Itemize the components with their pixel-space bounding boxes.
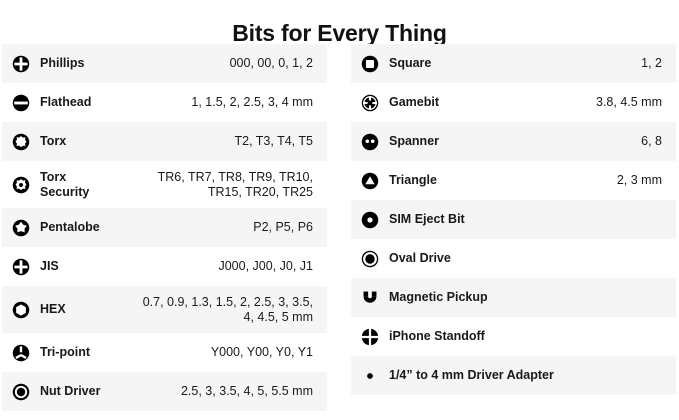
bit-row: JISJ000, J00, J0, J1: [2, 247, 327, 286]
bit-sizes: 1, 1.5, 2, 2.5, 3, 4 mm: [97, 95, 313, 110]
bit-label: HEX: [40, 302, 72, 317]
bit-label: Spanner: [389, 134, 445, 149]
page-title: Bits for Every Thing: [0, 0, 679, 44]
bit-row: Flathead1, 1.5, 2, 2.5, 3, 4 mm: [2, 83, 327, 122]
sim-eject-icon: [361, 211, 389, 229]
bit-sizes: 1, 2: [437, 56, 662, 71]
bit-label: 1/4” to 4 mm Driver Adapter: [389, 368, 560, 383]
bit-row: Square1, 2: [351, 44, 676, 83]
pentalobe-icon: [12, 219, 40, 237]
bit-label: Triangle: [389, 173, 443, 188]
nut-driver-icon: [12, 383, 40, 401]
bit-label: Gamebit: [389, 95, 445, 110]
bit-label: Torx Security: [40, 170, 95, 199]
bit-row: Phillips000, 00, 0, 1, 2: [2, 44, 327, 83]
tri-point-icon: [12, 344, 40, 362]
bits-chart-page: Bits for Every Thing Phillips000, 00, 0,…: [0, 0, 679, 420]
bit-row: iPhone Standoff: [351, 317, 676, 356]
bit-row: Oval Drive: [351, 239, 676, 278]
bit-sizes: T2, T3, T4, T5: [72, 134, 313, 149]
phillips-icon: [12, 55, 40, 73]
bit-row: Triangle2, 3 mm: [351, 161, 676, 200]
bit-row: Nut Driver2.5, 3, 3.5, 4, 5, 5.5 mm: [2, 372, 327, 411]
bit-label: Oval Drive: [389, 251, 457, 266]
torx-icon: [12, 133, 40, 151]
bit-row: Spanner6, 8: [351, 122, 676, 161]
bit-label: JIS: [40, 259, 65, 274]
square-icon: [361, 55, 389, 73]
bit-sizes: 2, 3 mm: [443, 173, 662, 188]
bit-label: Nut Driver: [40, 384, 106, 399]
spanner-icon: [361, 133, 389, 151]
bit-row: SIM Eject Bit: [351, 200, 676, 239]
bit-row: HEX0.7, 0.9, 1.3, 1.5, 2, 2.5, 3, 3.5, 4…: [2, 286, 327, 333]
gamebit-icon: [361, 94, 389, 112]
right-column: Square1, 2Gamebit3.8, 4.5 mmSpanner6, 8T…: [351, 44, 676, 395]
bit-label: Magnetic Pickup: [389, 290, 494, 305]
bit-sizes: P2, P5, P6: [106, 220, 313, 235]
driver-adapter-icon: [361, 367, 389, 385]
bit-label: Tri-point: [40, 345, 96, 360]
bit-row: TorxT2, T3, T4, T5: [2, 122, 327, 161]
bit-label: SIM Eject Bit: [389, 212, 471, 227]
bit-label: Torx: [40, 134, 72, 149]
bit-label: Pentalobe: [40, 220, 106, 235]
bit-sizes: 2.5, 3, 3.5, 4, 5, 5.5 mm: [106, 384, 313, 399]
bit-sizes: 6, 8: [445, 134, 662, 149]
jis-icon: [12, 258, 40, 276]
bit-label: Flathead: [40, 95, 97, 110]
hex-icon: [12, 301, 40, 319]
bit-sizes: 3.8, 4.5 mm: [445, 95, 662, 110]
bit-label: iPhone Standoff: [389, 329, 491, 344]
triangle-icon: [361, 172, 389, 190]
bit-sizes: 0.7, 0.9, 1.3, 1.5, 2, 2.5, 3, 3.5, 4, 4…: [72, 295, 313, 325]
bit-sizes: Y000, Y00, Y0, Y1: [96, 345, 313, 360]
bit-row: Torx SecurityTR6, TR7, TR8, TR9, TR10, T…: [2, 161, 327, 208]
bit-label: Phillips: [40, 56, 90, 71]
columns-container: Phillips000, 00, 0, 1, 2Flathead1, 1.5, …: [0, 44, 679, 411]
bit-sizes: 000, 00, 0, 1, 2: [90, 56, 313, 71]
bit-row: Magnetic Pickup: [351, 278, 676, 317]
bit-row: Tri-pointY000, Y00, Y0, Y1: [2, 333, 327, 372]
iphone-standoff-icon: [361, 328, 389, 346]
flathead-icon: [12, 94, 40, 112]
bit-row: PentalobeP2, P5, P6: [2, 208, 327, 247]
bit-row: Gamebit3.8, 4.5 mm: [351, 83, 676, 122]
left-column: Phillips000, 00, 0, 1, 2Flathead1, 1.5, …: [2, 44, 327, 411]
torx-security-icon: [12, 176, 40, 194]
oval-drive-icon: [361, 250, 389, 268]
bit-sizes: TR6, TR7, TR8, TR9, TR10, TR15, TR20, TR…: [95, 170, 313, 200]
bit-sizes: J000, J00, J0, J1: [65, 259, 313, 274]
bit-label: Square: [389, 56, 437, 71]
bit-row: 1/4” to 4 mm Driver Adapter: [351, 356, 676, 395]
magnetic-pickup-icon: [361, 289, 389, 307]
